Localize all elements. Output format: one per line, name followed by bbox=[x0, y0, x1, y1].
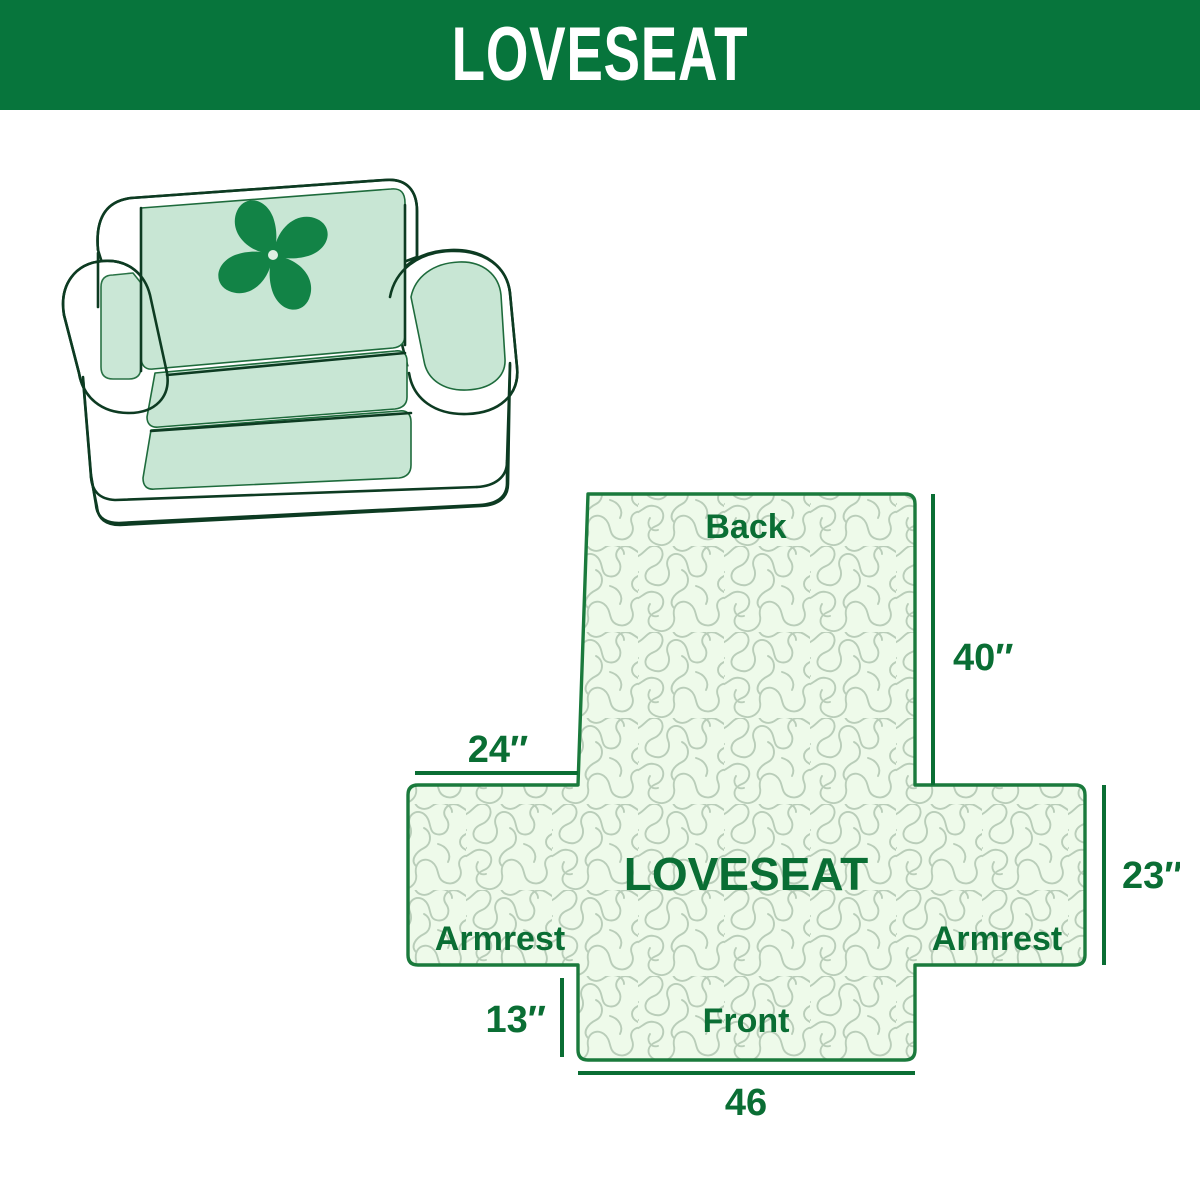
cover-pattern-diagram: Back Armrest Armrest Front LOVESEAT 40″ … bbox=[380, 460, 1180, 1140]
dimension-label-front-width: 46 bbox=[725, 1082, 767, 1124]
page-title: LOVESEAT bbox=[452, 17, 749, 93]
dimension-label-armrest-height: 23″ bbox=[1122, 855, 1180, 897]
pattern-center-label: LOVESEAT bbox=[624, 848, 869, 900]
cover-shape bbox=[408, 494, 1085, 1060]
dimension-label-back-height: 40″ bbox=[953, 637, 1013, 679]
panel-label-armrest-right: Armrest bbox=[932, 920, 1062, 958]
panel-label-front: Front bbox=[703, 1002, 790, 1040]
header-banner: LOVESEAT bbox=[0, 0, 1200, 110]
panel-label-back: Back bbox=[705, 508, 786, 546]
dimension-label-front-height: 13″ bbox=[486, 999, 546, 1041]
dimension-label-back-width: 24″ bbox=[468, 729, 528, 771]
panel-label-armrest-left: Armrest bbox=[435, 920, 565, 958]
